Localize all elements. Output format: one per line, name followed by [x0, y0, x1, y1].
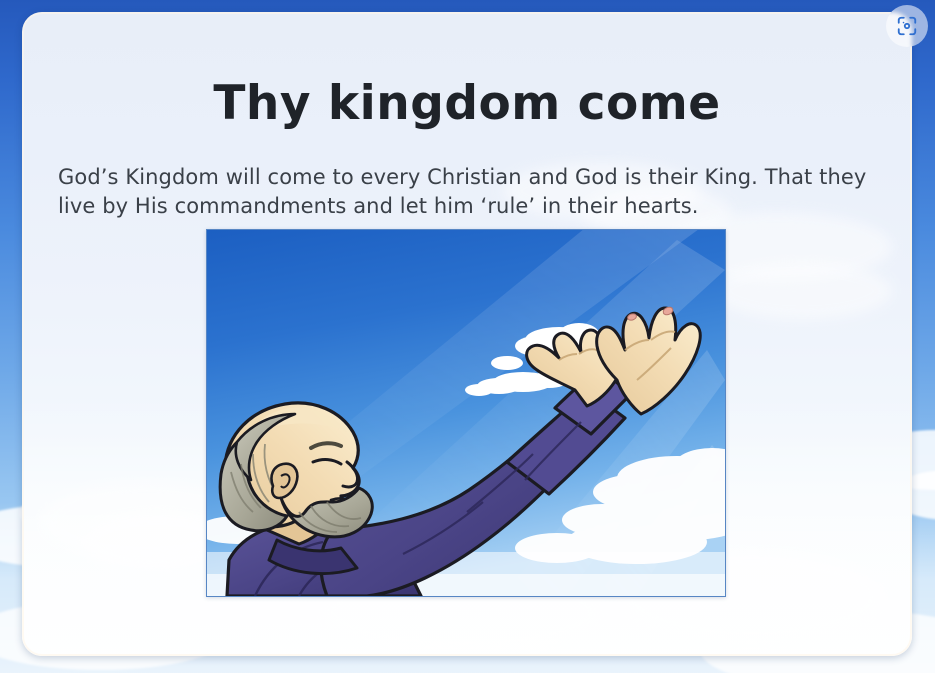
page-title: Thy kingdom come	[22, 79, 912, 128]
lens-icon	[896, 15, 918, 37]
card-content: Thy kingdom come God’s Kingdom will come…	[22, 12, 912, 656]
visual-search-button[interactable]	[886, 5, 928, 47]
slide-body-text: God’s Kingdom will come to every Christi…	[58, 163, 876, 221]
slide-card: Thy kingdom come God’s Kingdom will come…	[22, 12, 912, 656]
page-root: Thy kingdom come God’s Kingdom will come…	[0, 0, 935, 673]
illustration-frame	[206, 229, 726, 597]
praying-man-illustration	[207, 230, 725, 596]
